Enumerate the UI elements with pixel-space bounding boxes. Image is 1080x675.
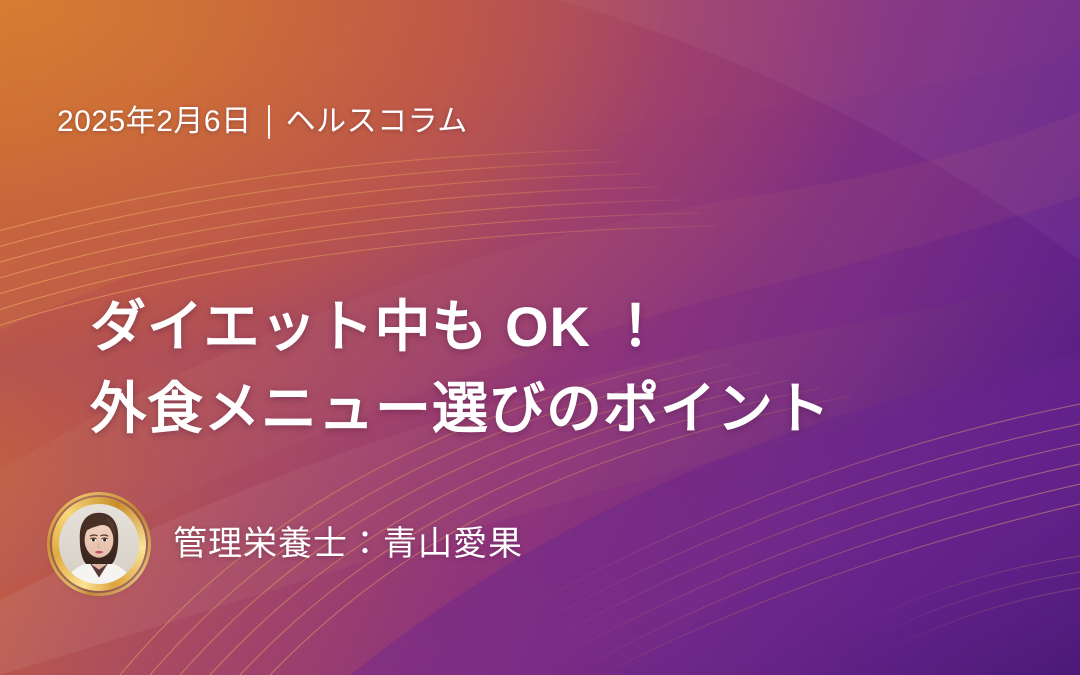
avatar — [47, 492, 151, 596]
health-column-banner: 2025年2月6日 ヘルスコラム ダイエット中も OK ！ 外食メニュー選びのポ… — [0, 0, 1080, 675]
publish-date: 2025年2月6日 — [57, 103, 252, 141]
author-name: 管理栄養士：青山愛果 — [173, 524, 523, 565]
page-title: ダイエット中も OK ！ 外食メニュー選びのポイント — [90, 286, 831, 452]
title-line-1: ダイエット中も OK ！ — [90, 286, 831, 369]
category-label: ヘルスコラム — [286, 103, 468, 141]
meta-separator — [268, 105, 270, 139]
avatar-photo — [59, 504, 139, 584]
banner-content: 2025年2月6日 ヘルスコラム ダイエット中も OK ！ 外食メニュー選びのポ… — [0, 0, 1080, 675]
article-meta: 2025年2月6日 ヘルスコラム — [57, 103, 468, 141]
title-line-2: 外食メニュー選びのポイント — [90, 368, 831, 451]
author-byline: 管理栄養士：青山愛果 — [47, 492, 523, 596]
